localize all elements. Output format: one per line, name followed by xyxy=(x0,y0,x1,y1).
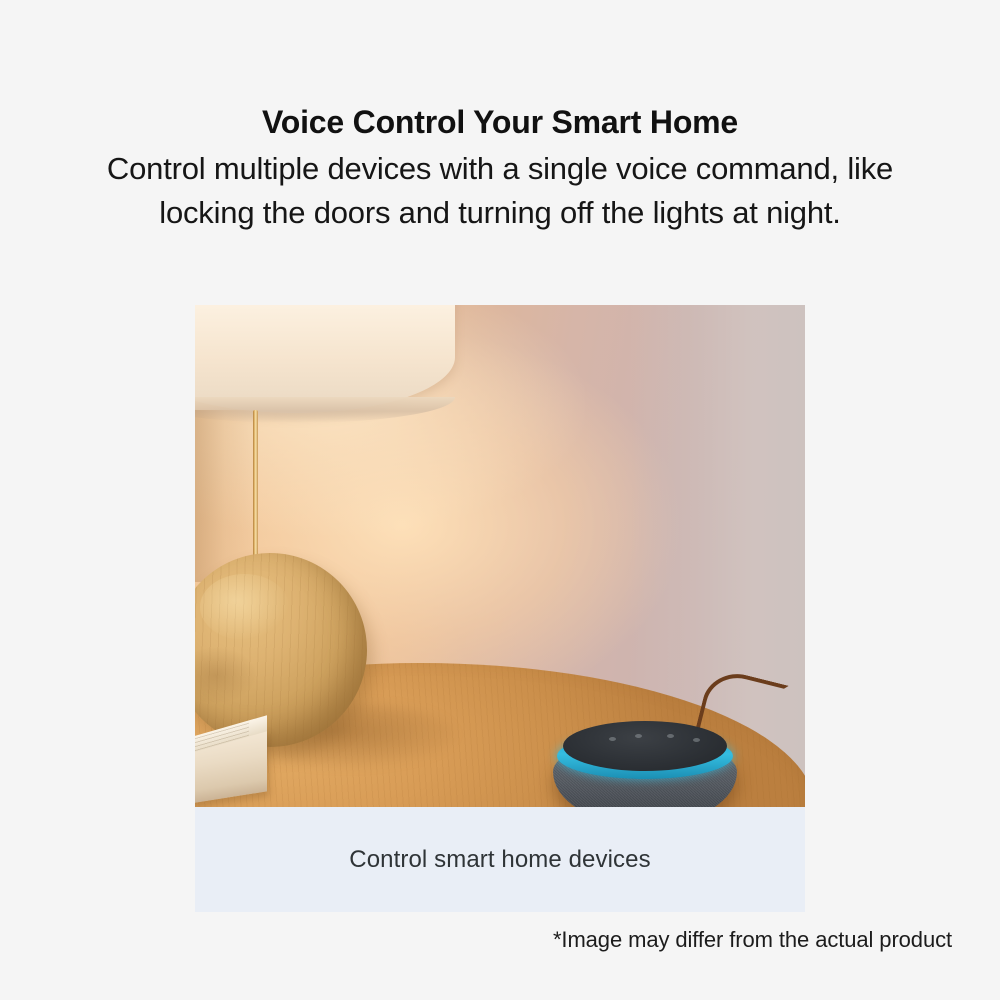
echo-dot-top-surface xyxy=(563,721,727,771)
action-button-icon xyxy=(667,734,674,738)
product-photo xyxy=(195,305,805,807)
page-title: Voice Control Your Smart Home xyxy=(0,104,1000,141)
volume-down-button-icon xyxy=(609,737,616,741)
page-subtitle: Control multiple devices with a single v… xyxy=(90,147,910,235)
heading-block: Voice Control Your Smart Home Control mu… xyxy=(0,104,1000,235)
photo-caption: Control smart home devices xyxy=(349,846,650,874)
echo-dot-speaker xyxy=(553,717,737,807)
product-feature-page: Voice Control Your Smart Home Control mu… xyxy=(0,0,1000,1000)
photo-caption-band: Control smart home devices xyxy=(195,807,805,912)
microphone-off-button-icon xyxy=(635,734,642,738)
volume-up-button-icon xyxy=(693,738,700,742)
disclaimer-footnote: *Image may differ from the actual produc… xyxy=(553,927,952,953)
feature-media-card: Control smart home devices xyxy=(195,305,805,912)
